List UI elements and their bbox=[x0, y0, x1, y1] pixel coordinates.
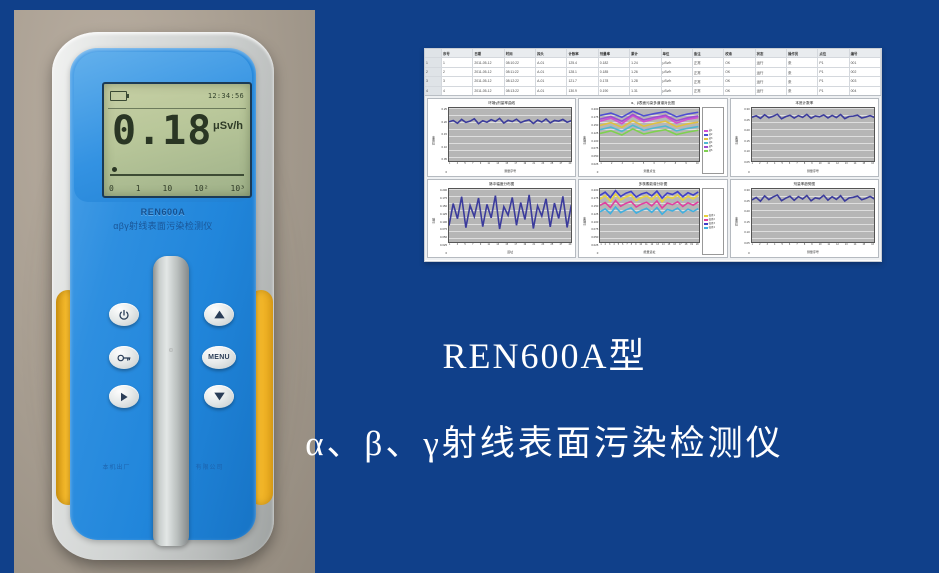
chart-legend-item[interactable]: 道4 bbox=[704, 141, 722, 144]
chart-x-axis-label: 测量序号 bbox=[751, 169, 875, 174]
chart-legend-item[interactable]: 核素1 bbox=[704, 214, 722, 217]
chart-x-tick: 11 bbox=[645, 243, 647, 250]
chart-series-line bbox=[600, 207, 698, 214]
chart-x-tick: 17 bbox=[514, 162, 517, 169]
table-header-cell[interactable]: 时间 bbox=[505, 49, 536, 57]
chart-x-tick: 19 bbox=[523, 162, 526, 169]
chart-x-tick: 3 bbox=[767, 162, 768, 169]
table-cell[interactable]: A-01 bbox=[536, 68, 567, 76]
chart-x-axis-label: 道址 bbox=[448, 250, 572, 255]
chart-series-svg bbox=[752, 108, 874, 161]
table-cell[interactable]: 001 bbox=[850, 58, 881, 66]
chart-legend-item[interactable]: 道5 bbox=[704, 145, 722, 148]
table-cell[interactable]: μSv/h bbox=[662, 68, 693, 76]
chart-x-tick: 19 bbox=[523, 243, 526, 250]
table-header-cell[interactable]: 状态 bbox=[756, 49, 787, 57]
table-cell[interactable]: 正常 bbox=[693, 58, 724, 66]
chart-x-tick: 20 bbox=[696, 243, 699, 250]
chart-y-tick: 0 bbox=[436, 170, 447, 174]
table-cell[interactable]: μSv/h bbox=[662, 87, 693, 95]
table-cell[interactable]: 1.24 bbox=[630, 58, 661, 66]
chart-x-tick: 1 bbox=[600, 162, 601, 169]
lcd-status-bar: 12:34:56 bbox=[110, 89, 244, 103]
chart-x-tick: 5 bbox=[643, 162, 644, 169]
table-cell[interactable]: 0.190 bbox=[599, 87, 630, 95]
chart-legend-label: 道5 bbox=[709, 145, 713, 148]
table-cell[interactable]: 08:10:22 bbox=[505, 58, 536, 66]
table-cell[interactable]: OK bbox=[724, 68, 755, 76]
chart-x-tick: 8 bbox=[804, 243, 805, 250]
chart-x-axis-label: 测量点位 bbox=[599, 169, 699, 174]
table-cell[interactable]: OK bbox=[724, 58, 755, 66]
table-cell[interactable]: μSv/h bbox=[662, 77, 693, 85]
chart-x-tick: 11 bbox=[488, 243, 490, 250]
chart-grid: 环境γ剂量率曲线剂量率0.250.200.150.100.05013579111… bbox=[425, 96, 881, 260]
chart-panel[interactable]: 多核素能谱分析图计数率0.2000.1750.1500.1250.1000.07… bbox=[578, 179, 727, 258]
table-cell[interactable]: OK bbox=[724, 87, 755, 95]
table-header-cell[interactable]: 单位 bbox=[662, 49, 693, 57]
chart-series-line bbox=[449, 118, 571, 123]
table-cell[interactable]: P1 bbox=[818, 68, 849, 76]
table-cell[interactable]: 08:13:22 bbox=[505, 87, 536, 95]
device-handle bbox=[153, 256, 189, 546]
chart-y-tick: 0.125 bbox=[587, 212, 598, 216]
chart-body: 计数率0.300.250.200.150.100.050123456789101… bbox=[734, 107, 875, 174]
chart-legend-swatch bbox=[704, 146, 708, 148]
chart-x-tick: 14 bbox=[662, 243, 665, 250]
table-cell[interactable]: μSv/h bbox=[662, 58, 693, 66]
chart-y-axis-label: 计数 bbox=[431, 188, 436, 255]
table-cell[interactable]: A-01 bbox=[536, 58, 567, 66]
chart-legend-swatch bbox=[704, 150, 708, 152]
table-cell[interactable]: 1.28 bbox=[630, 77, 661, 85]
chart-x-tick: 10 bbox=[819, 162, 822, 169]
table-cell[interactable]: 张 bbox=[787, 77, 818, 85]
lcd-bargraph-marker bbox=[112, 167, 117, 172]
chart-series-line bbox=[600, 111, 698, 117]
chart-y-tick: 0.15 bbox=[739, 220, 750, 224]
chart-x-tick: 13 bbox=[656, 243, 659, 250]
chart-legend-item[interactable]: 核素3 bbox=[704, 222, 722, 225]
chart-y-tick: 0.20 bbox=[739, 209, 750, 213]
chart-panel[interactable]: 环境γ剂量率曲线剂量率0.250.200.150.100.05013579111… bbox=[427, 98, 576, 177]
chart-y-tick: 0.175 bbox=[587, 196, 598, 200]
table-cell[interactable]: 08:11:22 bbox=[505, 68, 536, 76]
chart-legend: 核素1核素2核素3核素4 bbox=[702, 188, 724, 255]
chart-x-tick: 14 bbox=[854, 162, 857, 169]
chart-x-tick: 16 bbox=[871, 162, 874, 169]
chart-x-tick: 10 bbox=[819, 243, 822, 250]
chart-plot-area bbox=[448, 107, 572, 162]
chart-body: 计数率0.2000.1750.1500.1250.1000.0750.0500.… bbox=[582, 107, 723, 174]
chart-legend-swatch bbox=[704, 142, 708, 144]
chart-body: 计数率0.2000.1750.1500.1250.1000.0750.0500.… bbox=[582, 188, 723, 255]
table-header-cell[interactable]: 累计 bbox=[630, 49, 661, 57]
chart-x-tick: 3 bbox=[609, 243, 610, 250]
chart-body: 剂量率0.250.200.150.100.0501357911131517192… bbox=[431, 107, 572, 174]
table-cell[interactable]: A-01 bbox=[536, 77, 567, 85]
chart-plot-area bbox=[448, 188, 572, 243]
chart-legend-item[interactable]: 核素4 bbox=[704, 226, 722, 229]
chart-x-tick: 8 bbox=[631, 243, 632, 250]
chart-y-tick: 0 bbox=[739, 251, 750, 255]
chart-x-tick: 15 bbox=[862, 162, 865, 169]
chart-x-tick: 9 bbox=[480, 243, 481, 250]
table-cell[interactable]: 张 bbox=[787, 68, 818, 76]
chart-y-tick: 0.10 bbox=[739, 230, 750, 234]
chart-plot-area bbox=[751, 107, 875, 162]
table-header-cell[interactable]: 探头 bbox=[536, 49, 567, 57]
table-row[interactable]: 112011-05-1208:10:22A-01125.40.1821.24μS… bbox=[425, 58, 881, 67]
chart-y-tick: 0.025 bbox=[587, 243, 598, 247]
chart-panel[interactable]: 剂量率趋势图剂量率0.300.250.200.150.100.050123456… bbox=[730, 179, 879, 258]
start-button[interactable] bbox=[109, 385, 139, 408]
chart-legend-item[interactable]: 核素2 bbox=[704, 218, 722, 221]
table-cell[interactable]: 2 bbox=[442, 68, 473, 76]
chart-x-tick: 5 bbox=[781, 243, 782, 250]
chart-legend-swatch bbox=[704, 215, 708, 217]
chart-y-tick: 0.30 bbox=[739, 188, 750, 192]
table-cell[interactable]: 125.4 bbox=[567, 58, 598, 66]
chart-body: 计数0.2000.1750.1500.1250.1000.0750.0500.0… bbox=[431, 188, 572, 255]
chart-y-tick: 0.10 bbox=[436, 145, 447, 149]
chart-y-axis-label: 计数率 bbox=[734, 107, 739, 174]
chart-series-line bbox=[600, 121, 698, 128]
table-cell[interactable]: 2011-05-12 bbox=[473, 58, 504, 66]
chart-series-svg bbox=[449, 108, 571, 161]
table-cell[interactable]: 2011-05-12 bbox=[473, 87, 504, 95]
chart-y-tick: 0.25 bbox=[739, 199, 750, 203]
table-cell[interactable]: 4 bbox=[442, 87, 473, 95]
chart-x-tick: 3 bbox=[622, 162, 623, 169]
chart-y-tick: 0.200 bbox=[587, 107, 598, 111]
chart-series-line bbox=[449, 195, 571, 229]
chart-legend-label: 道1 bbox=[709, 129, 713, 132]
chart-x-ticks: 1234567891011121314151617181920 bbox=[599, 243, 699, 250]
lcd-unit: μSv/h bbox=[213, 120, 243, 132]
chart-plot-wrapper: 12345678910测量点位 bbox=[599, 107, 699, 174]
chart-y-tick: 0.050 bbox=[587, 235, 598, 239]
chart-y-tick: 0.100 bbox=[436, 220, 447, 224]
measurement-data-table[interactable]: 序号日期时间探头计数率剂量率累计单位备注校准状态操作员点位编号112011-05… bbox=[425, 49, 881, 96]
table-cell[interactable]: 张 bbox=[787, 87, 818, 95]
table-row[interactable]: 222011-05-1208:11:22A-01128.10.1851.26μS… bbox=[425, 68, 881, 77]
table-cell[interactable]: 运行 bbox=[756, 58, 787, 66]
chart-x-tick: 16 bbox=[673, 243, 676, 250]
table-cell[interactable]: P1 bbox=[818, 87, 849, 95]
table-header-row: 序号日期时间探头计数率剂量率累计单位备注校准状态操作员点位编号 bbox=[425, 49, 881, 58]
chart-y-tick: 0 bbox=[587, 251, 598, 255]
chart-x-tick: 25 bbox=[551, 243, 554, 250]
chart-y-tick: 0.25 bbox=[739, 118, 750, 122]
chart-x-tick: 5 bbox=[781, 162, 782, 169]
table-header-cell[interactable]: 剂量率 bbox=[599, 49, 630, 57]
table-corner-cell bbox=[425, 49, 442, 57]
table-cell[interactable]: 121.7 bbox=[567, 77, 598, 85]
chart-x-tick: 2 bbox=[759, 162, 760, 169]
chart-y-tick: 0 bbox=[739, 170, 750, 174]
chart-x-tick: 23 bbox=[542, 243, 545, 250]
table-row-index: 3 bbox=[425, 77, 442, 85]
chart-legend-item[interactable]: 道6 bbox=[704, 149, 722, 152]
table-header-cell[interactable]: 日期 bbox=[473, 49, 504, 57]
chart-y-tick: 0.075 bbox=[587, 146, 598, 150]
table-header-cell[interactable]: 序号 bbox=[442, 49, 473, 57]
chart-x-tick: 25 bbox=[551, 162, 554, 169]
chart-y-tick: 0.05 bbox=[436, 157, 447, 161]
chart-y-ticks: 0.300.250.200.150.100.050 bbox=[739, 188, 751, 255]
chart-legend-label: 道6 bbox=[709, 149, 713, 152]
chart-legend-item[interactable]: 道3 bbox=[704, 137, 722, 140]
chart-y-tick: 0.025 bbox=[587, 162, 598, 166]
chart-y-tick: 0.15 bbox=[739, 139, 750, 143]
lcd-bargraph-axis bbox=[110, 174, 244, 176]
chart-x-tick: 15 bbox=[505, 162, 508, 169]
table-cell[interactable]: 128.1 bbox=[567, 68, 598, 76]
table-cell[interactable]: 正常 bbox=[693, 68, 724, 76]
table-cell[interactable]: 运行 bbox=[756, 87, 787, 95]
table-row-index: 2 bbox=[425, 68, 442, 76]
chart-series-line bbox=[600, 125, 698, 131]
chart-x-tick: 15 bbox=[862, 243, 865, 250]
chart-x-tick: 3 bbox=[457, 243, 458, 250]
lcd-reading: 0.18 bbox=[112, 111, 212, 151]
chart-x-axis-label: 测量序号 bbox=[448, 169, 572, 174]
table-header-cell[interactable]: 计数率 bbox=[567, 49, 598, 57]
chart-plot-wrapper: 12345678910111213141516测量序号 bbox=[751, 188, 875, 255]
chart-x-tick: 8 bbox=[675, 162, 676, 169]
chart-legend-label: 核素4 bbox=[709, 226, 715, 229]
chart-y-axis-label: 计数率 bbox=[582, 188, 587, 255]
table-cell[interactable]: 运行 bbox=[756, 77, 787, 85]
table-cell[interactable]: 正常 bbox=[693, 87, 724, 95]
chart-y-ticks: 0.2000.1750.1500.1250.1000.0750.0500.025… bbox=[587, 188, 599, 255]
chart-x-tick: 5 bbox=[464, 243, 465, 250]
table-cell[interactable]: 正常 bbox=[693, 77, 724, 85]
power-button[interactable] bbox=[109, 303, 139, 326]
chart-x-tick: 6 bbox=[653, 162, 654, 169]
chart-plot-wrapper: 12345678910111213141516测量序号 bbox=[751, 107, 875, 174]
chart-x-tick: 11 bbox=[828, 243, 830, 250]
device-lcd-screen: 12:34:56 0.18 μSv/h 011010²10³ bbox=[102, 82, 252, 198]
chart-x-tick: 4 bbox=[774, 243, 775, 250]
chart-x-tick: 11 bbox=[828, 162, 830, 169]
chart-x-tick: 27 bbox=[560, 243, 563, 250]
table-cell[interactable]: 0.185 bbox=[599, 68, 630, 76]
chart-y-tick: 0.175 bbox=[587, 115, 598, 119]
chart-x-axis-label: 测量序号 bbox=[751, 250, 875, 255]
chart-x-tick: 5 bbox=[618, 243, 619, 250]
chart-panel[interactable]: 本底计数率计数率0.300.250.200.150.100.0501234567… bbox=[730, 98, 879, 177]
chart-x-tick: 13 bbox=[496, 243, 499, 250]
chart-x-tick: 2 bbox=[759, 243, 760, 250]
table-cell[interactable]: P1 bbox=[818, 77, 849, 85]
chart-y-tick: 0.200 bbox=[587, 188, 598, 192]
chart-x-tick: 9 bbox=[811, 243, 812, 250]
slide-root: 12:34:56 0.18 μSv/h 011010²10³ REN600A α… bbox=[0, 0, 939, 573]
chart-x-tick: 9 bbox=[811, 162, 812, 169]
table-cell[interactable]: 002 bbox=[850, 68, 881, 76]
chart-y-tick: 0.20 bbox=[739, 128, 750, 132]
chart-y-tick: 0.025 bbox=[436, 243, 447, 247]
chart-panel[interactable]: 脉冲幅度分布图计数0.2000.1750.1500.1250.1000.0750… bbox=[427, 179, 576, 258]
chart-x-tick: 1 bbox=[752, 243, 753, 250]
chart-plot-wrapper: 1234567891011121314151617181920能量道址 bbox=[599, 188, 699, 255]
chart-x-tick: 1 bbox=[449, 243, 450, 250]
chart-y-tick: 0.05 bbox=[739, 241, 750, 245]
chart-x-tick: 6 bbox=[789, 243, 790, 250]
table-row[interactable]: 442011-05-1208:13:22A-01130.90.1901.31μS… bbox=[425, 87, 881, 95]
chart-x-tick: 18 bbox=[685, 243, 688, 250]
chart-x-tick: 13 bbox=[496, 162, 499, 169]
chart-panel[interactable]: α、β表面污染多道谱对比图计数率0.2000.1750.1500.1250.10… bbox=[578, 98, 727, 177]
chart-y-tick: 0.125 bbox=[587, 131, 598, 135]
chart-legend-label: 道3 bbox=[709, 137, 713, 140]
chart-x-tick: 7 bbox=[626, 243, 627, 250]
table-cell[interactable]: 2011-05-12 bbox=[473, 77, 504, 85]
page-title-product: α、β、γ射线表面污染检测仪 bbox=[0, 415, 939, 466]
table-header-cell[interactable]: 点位 bbox=[818, 49, 849, 57]
table-header-cell[interactable]: 校准 bbox=[724, 49, 755, 57]
lcd-scale-tick: 1 bbox=[136, 184, 141, 193]
table-cell[interactable]: 0.182 bbox=[599, 58, 630, 66]
chart-x-tick: 14 bbox=[854, 243, 857, 250]
down-button[interactable] bbox=[204, 385, 234, 408]
chart-y-tick: 0.075 bbox=[436, 227, 447, 231]
device-model-label: REN600A bbox=[70, 207, 256, 217]
chart-plot-wrapper: 1357911131517192123252729测量序号 bbox=[448, 107, 572, 174]
table-row-index: 1 bbox=[425, 58, 442, 66]
chart-x-tick: 10 bbox=[696, 162, 699, 169]
chart-x-tick: 4 bbox=[632, 162, 633, 169]
chart-y-tick: 0.30 bbox=[739, 107, 750, 111]
chart-x-tick: 16 bbox=[871, 243, 874, 250]
chart-x-ticks: 1357911131517192123252729 bbox=[448, 162, 572, 169]
chart-x-tick: 5 bbox=[464, 162, 465, 169]
table-cell[interactable]: 1.31 bbox=[630, 87, 661, 95]
table-row[interactable]: 332011-05-1208:12:22A-01121.70.1781.28μS… bbox=[425, 77, 881, 86]
chart-y-tick: 0.20 bbox=[436, 120, 447, 124]
chart-x-tick: 23 bbox=[542, 162, 545, 169]
chart-series-svg bbox=[600, 189, 698, 242]
chart-legend-item[interactable]: 道1 bbox=[704, 129, 722, 132]
table-header-cell[interactable]: 备注 bbox=[693, 49, 724, 57]
table-cell[interactable]: 0.178 bbox=[599, 77, 630, 85]
chart-y-axis-label: 剂量率 bbox=[734, 188, 739, 255]
up-button[interactable] bbox=[204, 303, 234, 326]
chart-series-line bbox=[752, 114, 874, 119]
chart-x-tick: 13 bbox=[845, 162, 848, 169]
chart-x-tick: 7 bbox=[664, 162, 665, 169]
chart-x-tick: 6 bbox=[622, 243, 623, 250]
chart-x-tick: 7 bbox=[472, 162, 473, 169]
chart-x-tick: 9 bbox=[635, 243, 636, 250]
lcd-scale-tick: 10 bbox=[163, 184, 173, 193]
chart-y-tick: 0 bbox=[436, 251, 447, 255]
battery-icon bbox=[110, 91, 127, 101]
table-cell[interactable]: 1 bbox=[442, 58, 473, 66]
triangle-up-icon bbox=[213, 309, 226, 320]
chart-y-axis-label: 计数率 bbox=[582, 107, 587, 174]
chart-x-ticks: 12345678910111213141516 bbox=[751, 243, 875, 250]
chart-y-ticks: 0.2000.1750.1500.1250.1000.0750.0500.025… bbox=[436, 188, 448, 255]
chart-x-tick: 11 bbox=[488, 162, 490, 169]
chart-y-ticks: 0.250.200.150.100.050 bbox=[436, 107, 448, 174]
chart-x-tick: 3 bbox=[767, 243, 768, 250]
software-screenshot: 序号日期时间探头计数率剂量率累计单位备注校准状态操作员点位编号112011-05… bbox=[424, 48, 882, 262]
chart-plot-wrapper: 1357911131517192123252729道址 bbox=[448, 188, 572, 255]
power-icon bbox=[118, 309, 130, 321]
lcd-scale-tick: 10³ bbox=[231, 184, 245, 193]
chart-plot-area bbox=[599, 107, 699, 162]
lcd-scale-tick: 0 bbox=[109, 184, 114, 193]
chart-x-tick: 7 bbox=[472, 243, 473, 250]
table-cell[interactable]: 003 bbox=[850, 77, 881, 85]
chart-legend-swatch bbox=[704, 223, 708, 225]
play-icon bbox=[118, 391, 130, 403]
chart-x-tick: 29 bbox=[569, 243, 572, 250]
table-cell[interactable]: 004 bbox=[850, 87, 881, 95]
triangle-down-icon bbox=[213, 391, 226, 402]
chart-series-line bbox=[752, 195, 874, 201]
table-cell[interactable]: 张 bbox=[787, 58, 818, 66]
chart-x-tick: 2 bbox=[605, 243, 606, 250]
chart-y-tick: 0.050 bbox=[587, 154, 598, 158]
chart-x-tick: 1 bbox=[449, 162, 450, 169]
chart-x-tick: 1 bbox=[600, 243, 601, 250]
chart-x-tick: 10 bbox=[639, 243, 642, 250]
table-cell[interactable]: 2011-05-12 bbox=[473, 68, 504, 76]
chart-legend-label: 核素3 bbox=[709, 222, 715, 225]
chart-y-axis-label: 剂量率 bbox=[431, 107, 436, 174]
chart-x-ticks: 12345678910 bbox=[599, 162, 699, 169]
chart-series-svg bbox=[600, 108, 698, 161]
chart-x-tick: 29 bbox=[569, 162, 572, 169]
table-cell[interactable]: 130.9 bbox=[567, 87, 598, 95]
table-cell[interactable]: P1 bbox=[818, 58, 849, 66]
chart-x-ticks: 12345678910111213141516 bbox=[751, 162, 875, 169]
table-cell[interactable]: 08:12:22 bbox=[505, 77, 536, 85]
table-header-cell[interactable]: 操作员 bbox=[787, 49, 818, 57]
chart-legend-swatch bbox=[704, 138, 708, 140]
chart-x-tick: 12 bbox=[836, 243, 839, 250]
chart-x-tick: 21 bbox=[532, 162, 535, 169]
table-cell[interactable]: 3 bbox=[442, 77, 473, 85]
chart-legend-label: 核素1 bbox=[709, 214, 715, 217]
table-cell[interactable]: OK bbox=[724, 77, 755, 85]
chart-x-tick: 21 bbox=[532, 243, 535, 250]
chart-x-tick: 9 bbox=[480, 162, 481, 169]
chart-legend-item[interactable]: 道2 bbox=[704, 133, 722, 136]
table-cell[interactable]: A-01 bbox=[536, 87, 567, 95]
chart-x-tick: 4 bbox=[613, 243, 614, 250]
chart-series-line bbox=[600, 116, 698, 124]
chart-y-tick: 0.150 bbox=[436, 204, 447, 208]
table-row-index: 4 bbox=[425, 87, 442, 95]
table-cell[interactable]: 1.26 bbox=[630, 68, 661, 76]
table-cell[interactable]: 运行 bbox=[756, 68, 787, 76]
chart-x-tick: 17 bbox=[514, 243, 517, 250]
chart-x-tick: 7 bbox=[796, 243, 797, 250]
chart-x-tick: 6 bbox=[789, 162, 790, 169]
chart-legend-label: 核素2 bbox=[709, 218, 715, 221]
table-header-cell[interactable]: 编号 bbox=[850, 49, 881, 57]
chart-y-tick: 0.05 bbox=[739, 160, 750, 164]
chart-legend-swatch bbox=[704, 134, 708, 136]
chart-x-tick: 9 bbox=[685, 162, 686, 169]
chart-x-tick: 15 bbox=[668, 243, 671, 250]
chart-y-tick: 0.075 bbox=[587, 227, 598, 231]
